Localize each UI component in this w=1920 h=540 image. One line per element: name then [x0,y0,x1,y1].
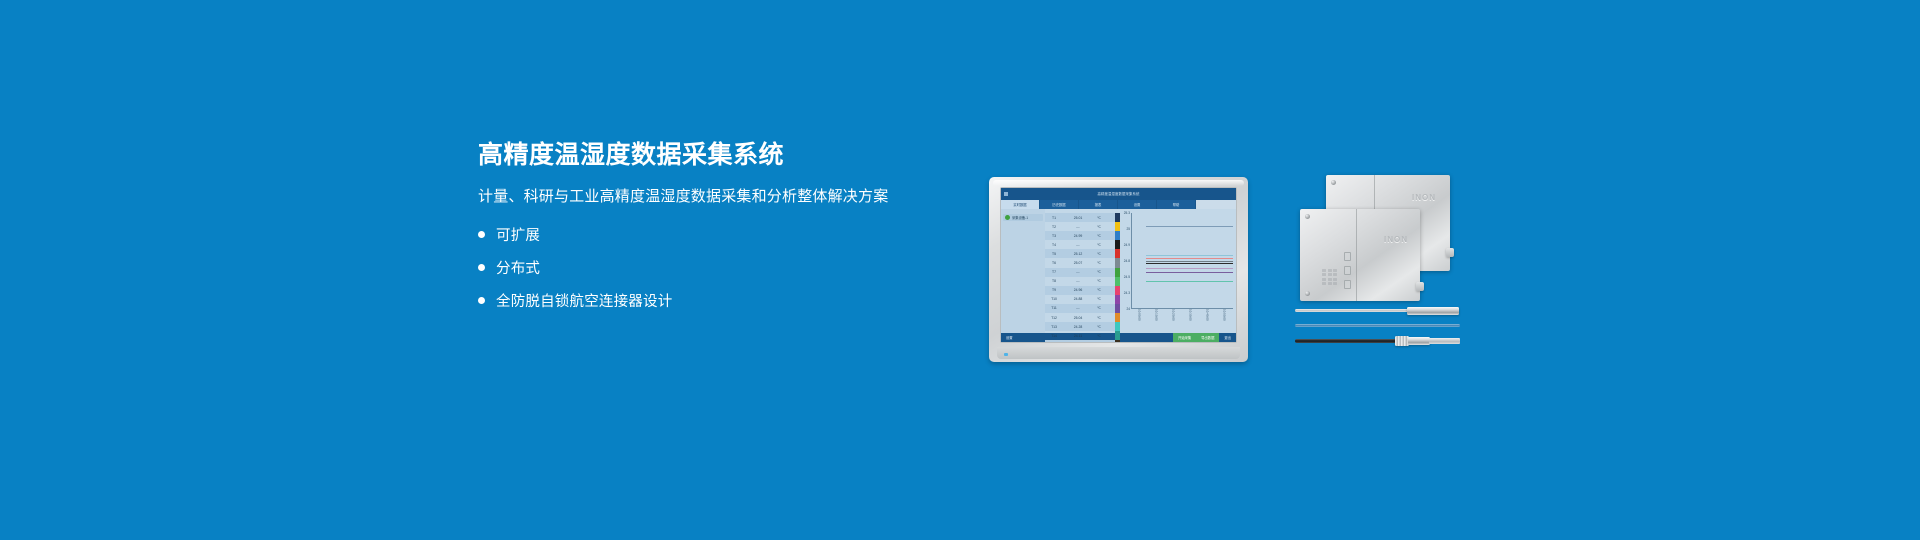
table-row[interactable]: T7---℃ [1045,268,1115,277]
chart-x-tick-label: 10:20:00 [1172,309,1176,323]
channel-table: T125.01℃T2---℃T324.99℃T4---℃T525.12℃T625… [1045,209,1115,333]
channel-unit: ℃ [1093,270,1105,274]
list-item: 分布式 [478,259,908,277]
channel-id: T3 [1045,234,1063,238]
channel-value: --- [1063,225,1093,229]
chart-y-tick-label: 24.8 [1124,259,1130,263]
terminal-icon [1344,252,1351,261]
bullet-label: 分布式 [496,257,540,278]
status-dot-icon [1005,215,1010,220]
table-row[interactable]: T1225.04℃ [1045,313,1115,322]
channel-unit: ℃ [1093,225,1105,229]
power-led-icon [1004,353,1008,356]
screw-icon [1305,291,1310,296]
chart-series-line [1146,258,1233,259]
chart-y-tick-label: 25.3 [1124,211,1130,215]
exit-button[interactable]: 退出 [1219,333,1236,342]
bullet-label: 全防脱自锁航空连接器设计 [496,290,672,311]
channel-id: T6 [1045,261,1063,265]
bullet-dot-icon [478,231,485,238]
table-row[interactable]: T11---℃ [1045,304,1115,313]
channel-value: 24.11 [1063,334,1093,338]
channel-value: 24.99 [1063,234,1093,238]
channel-value: --- [1063,270,1093,274]
bullet-dot-icon [478,264,485,271]
channel-value: 25.07 [1063,261,1093,265]
software-tabbar: 实时数据 历史数据 报表 设置 帮助 [1001,199,1236,209]
tab-settings[interactable]: 设置 [1118,200,1156,209]
enclosure-front-unit: INON [1300,209,1420,301]
probe-shaft [1295,309,1415,312]
table-row[interactable]: T924.96℃ [1045,286,1115,295]
chart-series-line [1146,281,1233,282]
enclosure-group: INON INON [1300,175,1460,305]
channel-unit: ℃ [1093,261,1105,265]
chart-x-tick-label: 10:00:00 [1138,309,1142,323]
sidebar-item-label: 采集设备-1 [1012,215,1028,220]
vent-grid-icon [1322,269,1337,286]
connector-port [1446,248,1454,257]
device-tree-sidebar: 采集设备-1 [1001,209,1045,333]
channel-value: --- [1063,306,1093,310]
tab-history-data[interactable]: 历史数据 [1040,200,1078,209]
channel-unit: ℃ [1093,297,1105,301]
bullet-label: 可扩展 [496,224,540,245]
chart-y-axis: 25.32524.924.824.524.324 [1120,213,1131,309]
window-title: 高精度温湿度数据采集系统 [1001,191,1236,196]
software-body: 采集设备-1 T125.01℃T2---℃T324.99℃T4---℃T525.… [1001,209,1236,333]
probe-locking-nut [1395,336,1409,346]
table-row[interactable]: T2---℃ [1045,222,1115,231]
channel-id: T10 [1045,297,1063,301]
bezel-highlight [993,180,1244,186]
screen-frame: 高精度温湿度数据采集系统 实时数据 历史数据 报表 设置 帮助 采集设备-1 T… [1000,187,1237,343]
channel-unit: ℃ [1093,252,1105,256]
chart-y-tick-label: 24 [1126,307,1130,311]
tab-report[interactable]: 报表 [1079,200,1117,209]
chart-x-tick-label: 10:30:00 [1189,309,1193,323]
settings-button[interactable]: 设置 [1001,333,1018,342]
table-row[interactable]: T1324.28℃ [1045,322,1115,331]
chart-x-tick-label: 10:50:00 [1223,309,1227,323]
channel-id: T5 [1045,252,1063,256]
probe-tip [1429,338,1460,344]
table-row[interactable]: T625.07℃ [1045,258,1115,267]
chart-plot-area [1131,213,1233,309]
channel-value: --- [1063,243,1093,247]
list-item: 可扩展 [478,226,908,244]
channel-id: T11 [1045,306,1063,310]
channel-id: T4 [1045,243,1063,247]
screw-icon [1305,214,1310,219]
bullet-dot-icon [478,297,485,304]
connector-port [1416,282,1424,291]
probe-sleeve [1408,337,1430,345]
channel-id: T7 [1045,270,1063,274]
page-title: 高精度温湿度数据采集系统 [478,140,908,170]
channel-value: 25.01 [1063,216,1093,220]
channel-value: --- [1063,279,1093,283]
channel-unit: ℃ [1093,243,1105,247]
channel-unit: ℃ [1093,334,1105,338]
channel-value: 24.88 [1063,297,1093,301]
channel-value: 25.12 [1063,252,1093,256]
table-row[interactable]: T324.99℃ [1045,231,1115,240]
sidebar-item-device-1[interactable]: 采集设备-1 [1003,214,1043,221]
channel-unit: ℃ [1093,279,1105,283]
chart-series-line [1146,263,1233,264]
tab-help[interactable]: 帮助 [1157,200,1195,209]
channel-id: T2 [1045,225,1063,229]
chart-series-line [1146,261,1233,262]
terminal-icon [1344,266,1351,275]
chart-x-tick-label: 10:40:00 [1206,309,1210,323]
terminal-icon [1344,280,1351,289]
panel-pc-device: 高精度温湿度数据采集系统 实时数据 历史数据 报表 设置 帮助 采集设备-1 T… [989,177,1248,362]
panel-pc-foot [997,347,1240,359]
chart-series-line [1146,255,1233,256]
table-row[interactable]: T125.01℃ [1045,213,1115,222]
table-row[interactable]: T8---℃ [1045,277,1115,286]
software-titlebar: 高精度温湿度数据采集系统 [1001,188,1236,199]
table-row[interactable]: T4---℃ [1045,240,1115,249]
table-row[interactable]: T1024.88℃ [1045,295,1115,304]
screen: 高精度温湿度数据采集系统 实时数据 历史数据 报表 设置 帮助 采集设备-1 T… [1001,188,1236,342]
chart-x-axis: 10:00:0010:10:0010:20:0010:30:0010:40:00… [1131,309,1233,323]
channel-id: T14 [1045,334,1063,338]
channel-id: T1 [1045,216,1063,220]
page-subtitle: 计量、科研与工业高精度温湿度数据采集和分析整体解决方案 [478,187,908,207]
chart-y-tick-label: 24.3 [1124,291,1130,295]
screw-icon [1331,180,1336,185]
table-row[interactable]: T525.12℃ [1045,249,1115,258]
chart-y-tick-label: 24.9 [1124,243,1130,247]
channel-unit: ℃ [1093,325,1105,329]
chart-series-line [1146,268,1233,269]
table-row[interactable]: T1524.90℃ [1045,340,1115,342]
chart-series-line [1146,226,1233,227]
channel-unit: ℃ [1093,234,1105,238]
channel-unit: ℃ [1093,306,1105,310]
trend-chart: 25.32524.924.824.524.324 10:00:0010:10:0… [1120,209,1236,333]
start-acquisition-button[interactable]: 开始采集 [1173,333,1196,342]
channel-value: 24.28 [1063,325,1093,329]
channel-id: T12 [1045,316,1063,320]
probe-cable [1295,324,1460,327]
channel-value: 25.04 [1063,316,1093,320]
export-data-button[interactable]: 导出数据 [1196,333,1219,342]
channel-value: 24.96 [1063,288,1093,292]
brand-label: INON [1384,235,1408,244]
channel-unit: ℃ [1093,288,1105,292]
tab-realtime-data[interactable]: 实时数据 [1001,200,1039,209]
chart-x-tick-label: 10:10:00 [1155,309,1159,323]
channel-id: T9 [1045,288,1063,292]
table-row[interactable]: T1424.11℃ [1045,331,1115,340]
metal-probe-rod [1295,306,1460,316]
feature-bullet-list: 可扩展 分布式 全防脱自锁航空连接器设计 [478,226,908,310]
channel-color-swatch [1115,340,1120,342]
probe-group [1295,306,1460,354]
probe-cable [1295,339,1399,343]
probe-sleeve [1407,307,1459,315]
channel-unit: ℃ [1093,216,1105,220]
chart-y-tick-label: 25 [1126,227,1130,231]
blue-cable-probe [1295,323,1460,329]
list-item: 全防脱自锁航空连接器设计 [478,292,908,310]
channel-unit: ℃ [1093,316,1105,320]
enclosure-seam [1356,209,1357,301]
channel-id: T13 [1045,325,1063,329]
black-cable-connector-probe [1295,335,1460,349]
channel-id: T8 [1045,279,1063,283]
brand-label: INON [1412,193,1436,202]
tabbar-filler [1196,200,1236,209]
chart-series-line [1146,272,1233,273]
chart-y-tick-label: 24.5 [1124,275,1130,279]
hero-text-block: 高精度温湿度数据采集系统 计量、科研与工业高精度温湿度数据采集和分析整体解决方案… [478,140,908,325]
